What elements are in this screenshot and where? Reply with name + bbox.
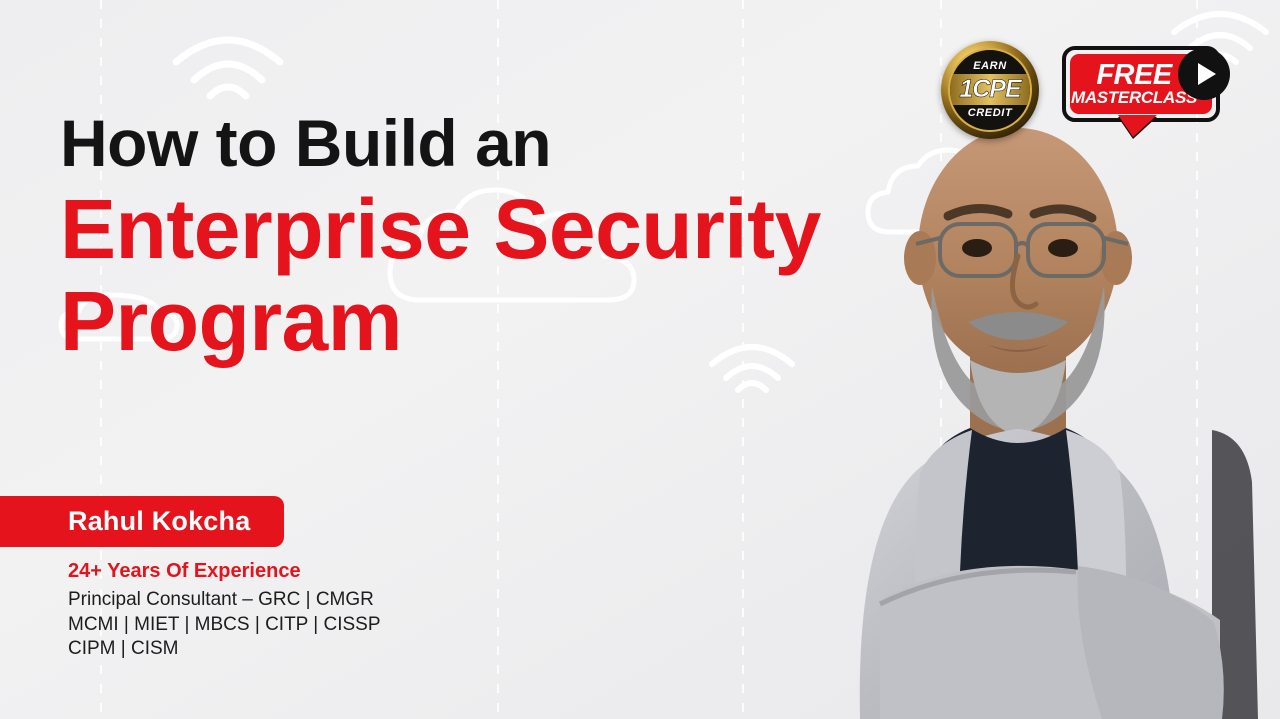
- cpe-badge-main-label: 1CPE: [959, 77, 1020, 102]
- headline-line-2: Enterprise Security: [60, 187, 940, 273]
- play-icon[interactable]: [1178, 48, 1230, 100]
- headline-line-1: How to Build an: [60, 110, 940, 177]
- speaker-experience: 24+ Years Of Experience: [68, 560, 381, 583]
- speech-bubble-tail: [1118, 115, 1157, 137]
- free-masterclass-badge[interactable]: FREE MASTERCLASS: [1062, 46, 1220, 122]
- masterclass-line-1: FREE: [1096, 62, 1171, 90]
- credential-line-3: CIPM | CISM: [68, 637, 381, 662]
- masterclass-line-2: MASTERCLASS: [1071, 89, 1197, 106]
- speaker-credentials: 24+ Years Of Experience Principal Consul…: [68, 560, 381, 662]
- speaker-name: Rahul Kokcha: [68, 506, 250, 537]
- cpe-badge-top-label: EARN: [973, 61, 1007, 72]
- speaker-name-banner: Rahul Kokcha: [0, 496, 284, 547]
- cpe-badge-bottom-label: CREDIT: [968, 108, 1013, 119]
- headline: How to Build an Enterprise Security Prog…: [60, 110, 940, 365]
- credential-line-2: MCMI | MIET | MBCS | CITP | CISSP: [68, 613, 381, 638]
- cpe-credit-badge: EARN 1CPE CREDIT: [941, 41, 1039, 139]
- masterclass-bubble: FREE MASTERCLASS: [1062, 46, 1220, 122]
- cpe-badge-inner: EARN 1CPE CREDIT: [948, 48, 1032, 132]
- wifi-icon: [168, 28, 288, 110]
- headline-line-3: Program: [60, 279, 940, 365]
- credential-line-1: Principal Consultant – GRC | CMGR: [68, 588, 381, 613]
- banner-canvas: How to Build an Enterprise Security Prog…: [0, 0, 1280, 719]
- cpe-badge-band: 1CPE: [950, 74, 1030, 105]
